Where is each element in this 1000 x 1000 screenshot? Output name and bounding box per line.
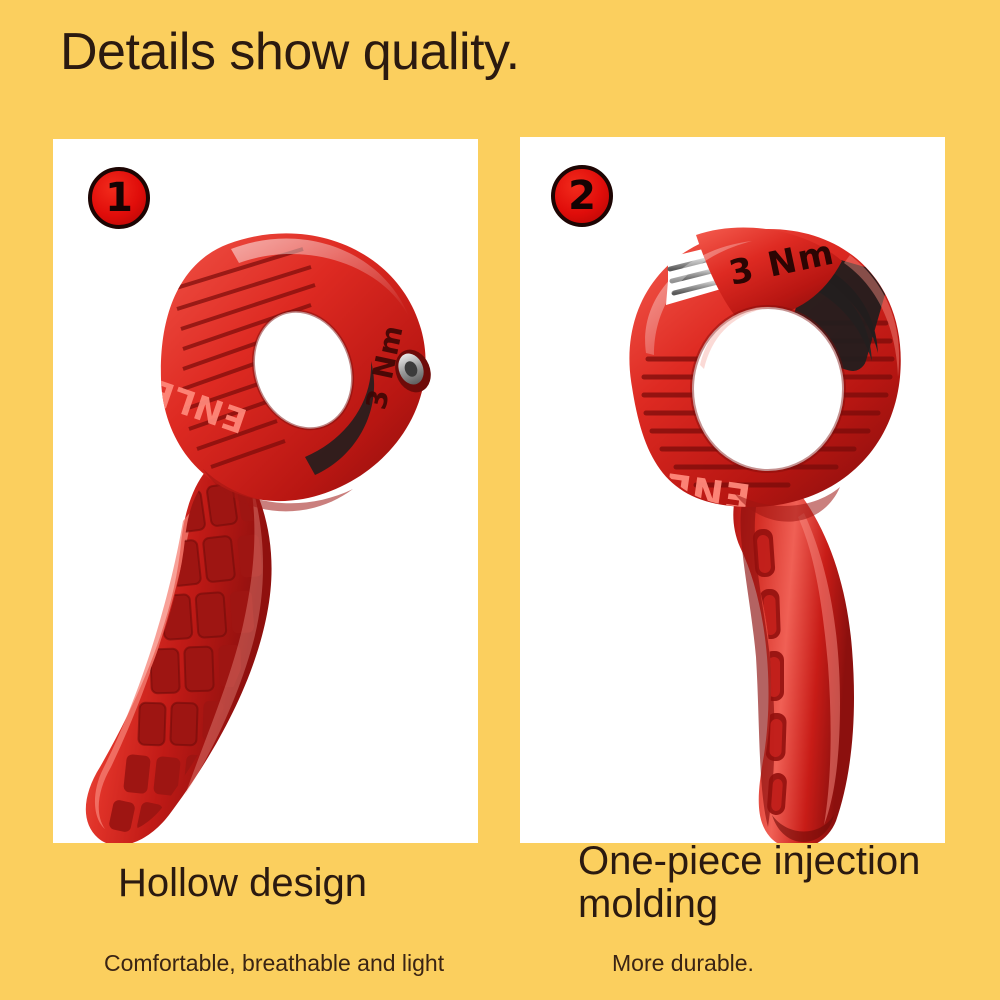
page-title: Details show quality. [60, 22, 520, 82]
caption-subtitle-hollow-design: Comfortable, breathable and light [104, 950, 444, 977]
marketing-infographic: Details show quality. [0, 0, 1000, 1000]
caption-subtitle-one-piece-molding: More durable. [612, 950, 754, 977]
caption-heading-hollow-design: Hollow design [118, 862, 367, 905]
step-badge-2: 2 [551, 165, 613, 227]
product-panel-hollow-design: ENLEE 3 Nm 1 [53, 139, 478, 843]
product-panel-one-piece-molding: ENLEE 3 Nm [520, 137, 945, 843]
step-badge-1: 1 [88, 167, 150, 229]
product-image-one-piece-molding: ENLEE 3 Nm [520, 137, 945, 843]
caption-heading-one-piece-molding: One-piece injection molding [578, 840, 948, 926]
clamp-ring-body: ENLEE 3 Nm [610, 227, 901, 521]
clamp-ring-body: ENLEE 3 Nm [121, 233, 437, 511]
clamp-handle-hollow [86, 454, 272, 843]
product-image-hollow-design: ENLEE 3 Nm [53, 139, 478, 843]
